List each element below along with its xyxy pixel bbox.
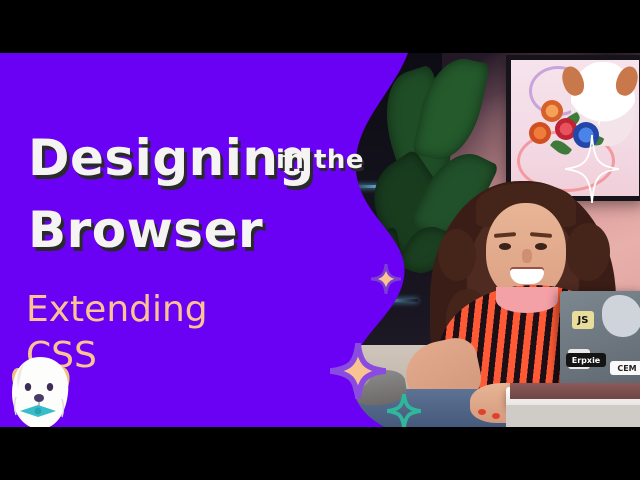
framed-dog-artwork [506, 55, 640, 201]
hair-curl [438, 229, 476, 281]
table-reflection [510, 383, 640, 399]
title-line-designing: Designing [28, 129, 315, 187]
fingernail [492, 413, 500, 419]
eye [499, 243, 511, 250]
artwork-rose [573, 122, 599, 148]
artwork-canvas [511, 60, 639, 196]
letterbox-bottom [0, 427, 640, 480]
letterbox-top [0, 0, 640, 53]
shirt-collar [496, 287, 558, 313]
table-edge [506, 405, 640, 427]
laptop-sticker-cem: CEM [610, 361, 640, 375]
artwork-rose [529, 122, 551, 144]
laptop-sticker-js: JS [572, 311, 594, 329]
laptop-sticker [602, 295, 640, 337]
nose [522, 249, 532, 263]
dog-mascot-logo [4, 353, 78, 427]
video-content-area: JS ☹ Erpxie CEM Designing in the Browser… [0, 53, 640, 427]
laptop-sticker-erp: Erpxie [566, 353, 606, 367]
subtitle-line-extending: Extending [26, 289, 208, 330]
smile [510, 269, 544, 284]
video-player-frame: JS ☹ Erpxie CEM Designing in the Browser… [0, 0, 640, 480]
hair-curl [566, 223, 610, 281]
title-line-browser: Browser [28, 201, 263, 259]
title-line-in-the: in the [276, 145, 364, 175]
eye [535, 243, 547, 250]
fingernail [478, 409, 486, 415]
